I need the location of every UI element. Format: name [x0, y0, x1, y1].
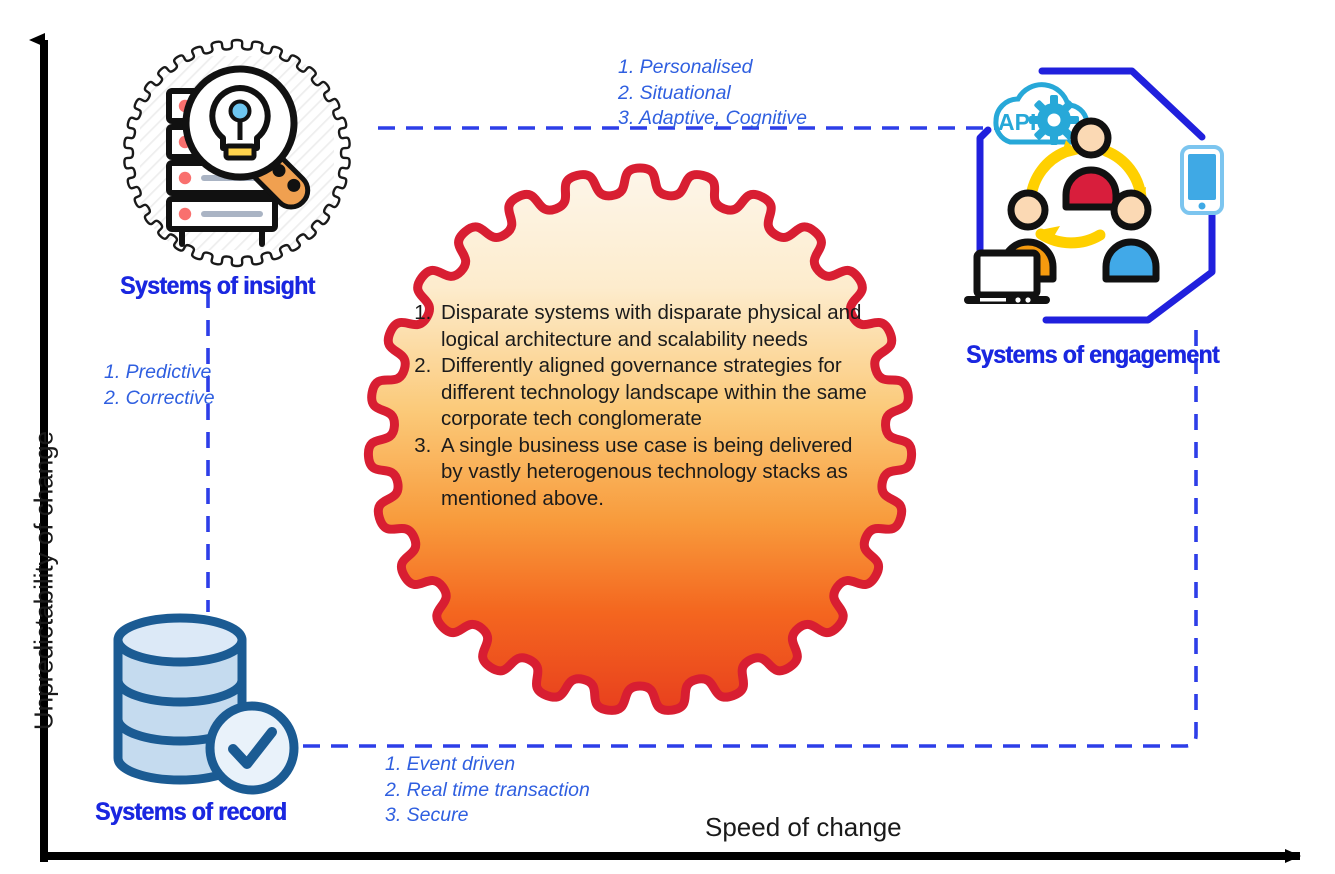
systems-of-insight-label: Systems of insight	[120, 272, 315, 301]
burst-item: Disparate systems with disparate physica…	[437, 300, 875, 353]
y-axis-label: Unpredictability of change	[29, 431, 60, 731]
systems-of-record-label: Systems of record	[95, 798, 286, 827]
systems-of-record-icon	[100, 600, 310, 800]
person-blue-icon	[1106, 193, 1156, 279]
annotation-bottom: 1. Event driven 2. Real time transaction…	[385, 752, 590, 829]
x-axis-label: Speed of change	[705, 812, 902, 843]
burst-item: Differently aligned governance strategie…	[437, 353, 875, 433]
annotation-item: 3. Adaptive, Cognitive	[618, 106, 807, 132]
lightbulb-icon	[212, 88, 267, 158]
annotation-item: 2. Situational	[618, 81, 807, 107]
annotation-left: 1. Predictive 2. Corrective	[104, 360, 215, 411]
annotation-item: 1. Event driven	[385, 752, 590, 778]
person-red-icon	[1066, 121, 1116, 207]
annotation-top: 1. Personalised 2. Situational 3. Adapti…	[618, 55, 807, 132]
burst-item: A single business use case is being deli…	[437, 433, 875, 513]
systems-of-engagement-icon: API	[950, 58, 1240, 348]
systems-of-engagement-label: Systems of engagement	[966, 341, 1219, 370]
annotation-item: 1. Predictive	[104, 360, 215, 386]
burst-content: Disparate systems with disparate physica…	[410, 300, 875, 512]
systems-of-insight-icon	[112, 28, 362, 278]
diagram-canvas: Unpredictability of change Speed of chan…	[0, 0, 1335, 874]
annotation-item: 2. Corrective	[104, 386, 215, 412]
smartphone-icon	[1182, 147, 1222, 213]
annotation-item: 2. Real time transaction	[385, 778, 590, 804]
check-badge-icon	[210, 706, 294, 790]
laptop-icon	[964, 253, 1050, 304]
annotation-item: 1. Personalised	[618, 55, 807, 81]
connector-bottom-horizontal	[303, 735, 1196, 746]
annotation-item: 3. Secure	[385, 803, 590, 829]
